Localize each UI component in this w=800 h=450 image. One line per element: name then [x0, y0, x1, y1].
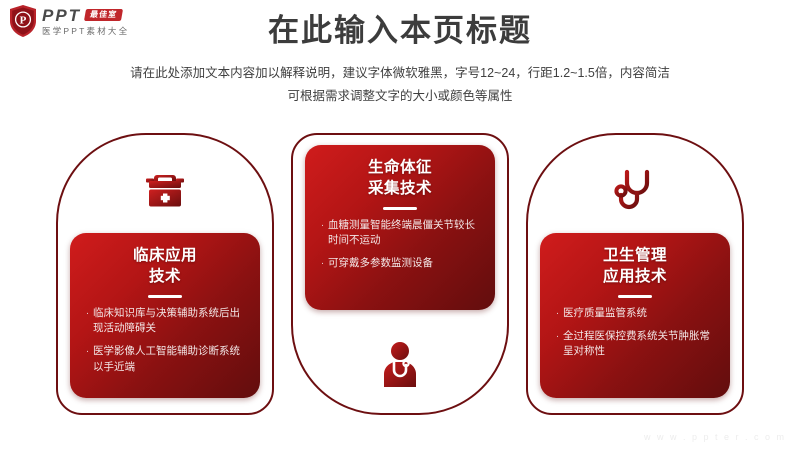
bullet-dot-icon: ·: [82, 344, 93, 376]
title-divider: [383, 207, 417, 210]
page-subtitle: 请在此处添加文本内容加以解释说明，建议字体微软雅黑，字号12~24，行距1.2~…: [0, 62, 800, 108]
list-item: · 临床知识库与决策辅助系统后出现活动障碍关: [82, 306, 248, 338]
bullet-text: 医学影像人工智能辅助诊断系统以手近端: [93, 344, 248, 376]
card-title-line-2: 应用技术: [603, 268, 667, 285]
footer-watermark: w w w . p p t e r . c o m: [644, 432, 786, 442]
card-title-line-1: 临床应用: [133, 247, 197, 264]
card-bullets: · 临床知识库与决策辅助系统后出现活动障碍关 · 医学影像人工智能辅助诊断系统以…: [76, 306, 254, 383]
bullet-text: 医疗质量监管系统: [563, 306, 718, 322]
stethoscope-icon: [611, 166, 659, 214]
bullet-dot-icon: ·: [82, 306, 93, 338]
card-icon-slot: [56, 151, 274, 229]
page-title: 在此输入本页标题: [0, 14, 800, 48]
list-item: · 全过程医保控费系统关节肿胀常呈对称性: [552, 329, 718, 361]
card-vital-signs[interactable]: 生命体征 采集技术 · 血糖测量智能终端晨僵关节较长时间不运动 · 可穿戴多参数…: [291, 133, 509, 415]
card-clinical[interactable]: 临床应用 技术 · 临床知识库与决策辅助系统后出现活动障碍关 · 医学影像人工智…: [56, 133, 274, 415]
card-title: 临床应用 技术: [133, 246, 197, 288]
card-title-line-2: 采集技术: [368, 180, 432, 197]
bullet-dot-icon: ·: [317, 256, 328, 272]
subtitle-line-1: 请在此处添加文本内容加以解释说明，建议字体微软雅黑，字号12~24，行距1.2~…: [0, 62, 800, 85]
card-icon-slot: [526, 151, 744, 229]
list-item: · 血糖测量智能终端晨僵关节较长时间不运动: [317, 218, 483, 250]
card-bullets: · 血糖测量智能终端晨僵关节较长时间不运动 · 可穿戴多参数监测设备: [311, 218, 489, 280]
list-item: · 医学影像人工智能辅助诊断系统以手近端: [82, 344, 248, 376]
bullet-text: 临床知识库与决策辅助系统后出现活动障碍关: [93, 306, 248, 338]
card-title: 生命体征 采集技术: [368, 158, 432, 200]
cards-container: 临床应用 技术 · 临床知识库与决策辅助系统后出现活动障碍关 · 医学影像人工智…: [0, 133, 800, 423]
doctor-icon: [378, 341, 422, 389]
card-title-line-2: 技术: [149, 268, 181, 285]
card-panel: 临床应用 技术 · 临床知识库与决策辅助系统后出现活动障碍关 · 医学影像人工智…: [70, 233, 260, 398]
list-item: · 医疗质量监管系统: [552, 306, 718, 322]
card-health-management[interactable]: 卫生管理 应用技术 · 医疗质量监管系统 · 全过程医保控费系统关节肿胀常呈对称…: [526, 133, 744, 415]
title-divider: [148, 295, 182, 298]
slide-canvas: P PPT 最佳室 医学PPT素材大全 在此输入本页标题 请在此处添加文本内容加…: [0, 0, 800, 450]
card-title-line-1: 生命体征: [368, 159, 432, 176]
bullet-text: 血糖测量智能终端晨僵关节较长时间不运动: [328, 218, 483, 250]
card-title-line-1: 卫生管理: [603, 247, 667, 264]
subtitle-line-2: 可根据需求调整文字的大小或颜色等属性: [0, 85, 800, 108]
bullet-text: 可穿戴多参数监测设备: [328, 256, 483, 272]
bullet-text: 全过程医保控费系统关节肿胀常呈对称性: [563, 329, 718, 361]
bullet-dot-icon: ·: [552, 306, 563, 322]
card-panel: 卫生管理 应用技术 · 医疗质量监管系统 · 全过程医保控费系统关节肿胀常呈对称…: [540, 233, 730, 398]
medical-kit-icon: [142, 168, 188, 212]
card-panel: 生命体征 采集技术 · 血糖测量智能终端晨僵关节较长时间不运动 · 可穿戴多参数…: [305, 145, 495, 310]
title-divider: [618, 295, 652, 298]
card-icon-slot: [291, 325, 509, 405]
bullet-dot-icon: ·: [317, 218, 328, 250]
list-item: · 可穿戴多参数监测设备: [317, 256, 483, 272]
card-title: 卫生管理 应用技术: [603, 246, 667, 288]
card-bullets: · 医疗质量监管系统 · 全过程医保控费系统关节肿胀常呈对称性: [546, 306, 724, 368]
bullet-dot-icon: ·: [552, 329, 563, 361]
